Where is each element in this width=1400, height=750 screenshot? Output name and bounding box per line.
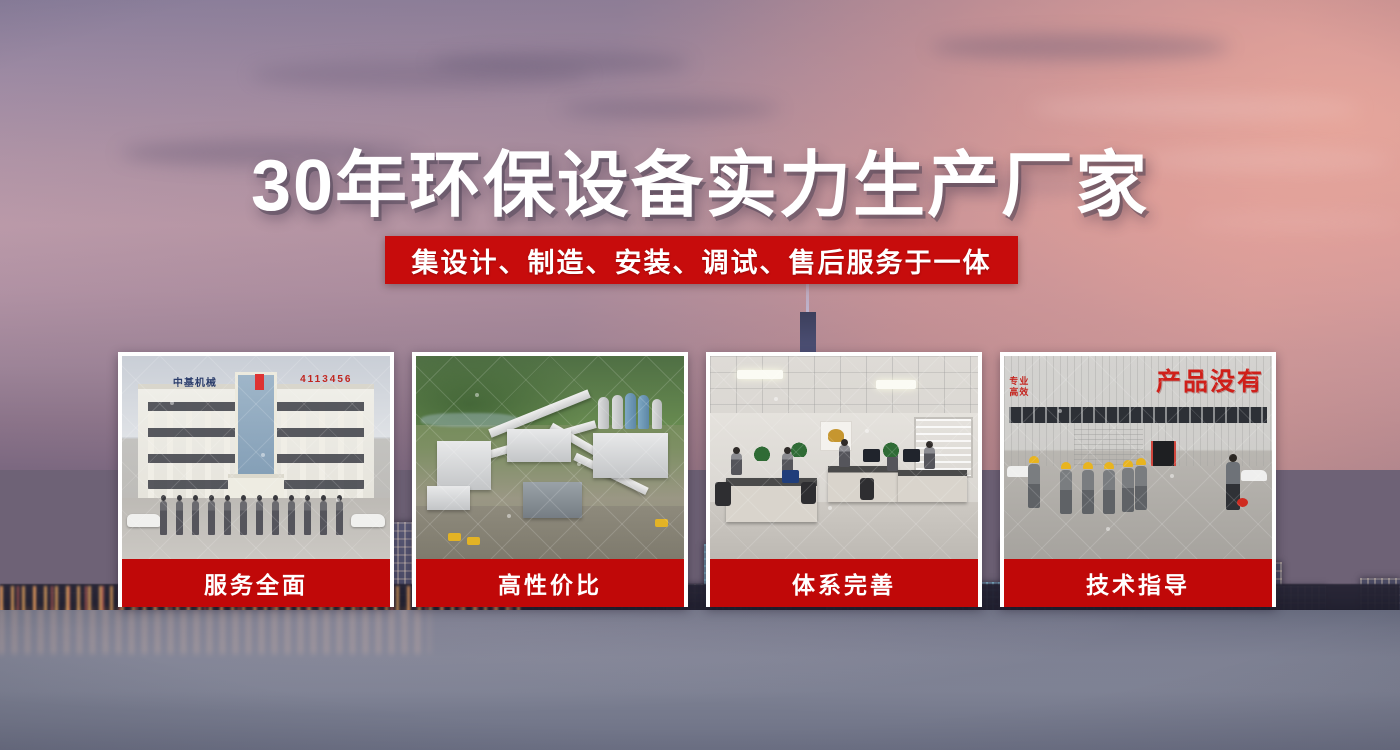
factory-sign-small: 专业高效 xyxy=(1009,376,1029,398)
card-label: 技术指导 xyxy=(1004,559,1272,607)
page-title: 30年环保设备实力生产厂家 xyxy=(0,126,1400,231)
card-label: 体系完善 xyxy=(710,559,978,607)
subtitle-banner: 集设计、制造、安装、调试、售后服务于一体 xyxy=(385,236,1018,284)
cloud xyxy=(1030,96,1360,120)
building-sign-number: 4113456 xyxy=(300,374,352,385)
feature-card[interactable]: 产品没有 专业高效 技术指导 xyxy=(1000,352,1276,607)
card-label: 高性价比 xyxy=(416,559,684,607)
feature-card-row: 中基机械 4113456 xyxy=(118,352,1280,607)
card-photo-plant-aerial xyxy=(416,356,684,559)
subtitle-text: 集设计、制造、安装、调试、售后服务于一体 xyxy=(412,241,992,280)
card-photo-office-interior xyxy=(710,356,978,559)
card-label: 服务全面 xyxy=(122,559,390,607)
building-sign-text: 中基机械 xyxy=(173,374,217,389)
feature-card[interactable]: 高性价比 xyxy=(412,352,688,607)
river-light-reflection xyxy=(0,608,430,654)
cloud xyxy=(560,100,780,118)
promo-banner: 30年环保设备实力生产厂家 集设计、制造、安装、调试、售后服务于一体 中基机械 … xyxy=(0,0,1400,750)
cloud xyxy=(250,60,590,90)
feature-card[interactable]: 体系完善 xyxy=(706,352,982,607)
feature-card[interactable]: 中基机械 4113456 xyxy=(118,352,394,607)
cloud xyxy=(930,34,1230,60)
factory-sign-large: 产品没有 xyxy=(1156,362,1264,398)
card-photo-workers-factory: 产品没有 专业高效 xyxy=(1004,356,1272,559)
card-photo-headquarters: 中基机械 4113456 xyxy=(122,356,390,559)
